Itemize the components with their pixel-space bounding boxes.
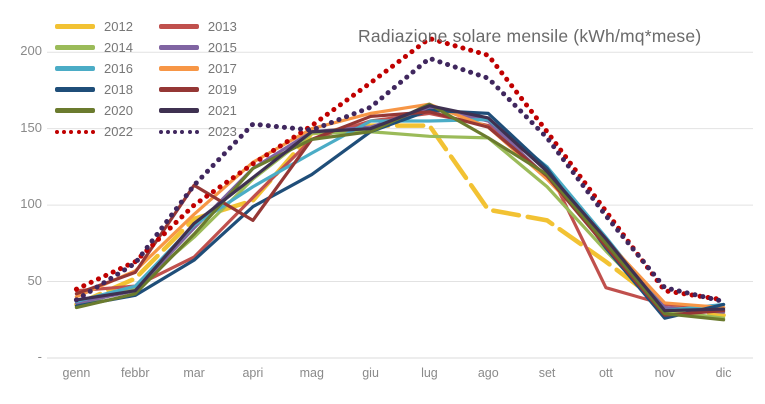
legend-item-2019[interactable]: 2019 bbox=[159, 79, 237, 100]
legend-item-2012[interactable]: 2012 bbox=[55, 16, 133, 37]
legend-swatch-2016 bbox=[55, 66, 95, 71]
legend-item-2017[interactable]: 2017 bbox=[159, 58, 237, 79]
legend-swatch-2021 bbox=[159, 108, 199, 113]
series-line-2014 bbox=[76, 132, 723, 319]
legend-label-2015: 2015 bbox=[208, 41, 237, 54]
legend-swatch-2013 bbox=[159, 24, 199, 29]
legend-item-2018[interactable]: 2018 bbox=[55, 79, 133, 100]
y-axis-tick-label: 150 bbox=[0, 120, 42, 135]
legend-item-2014[interactable]: 2014 bbox=[55, 37, 133, 58]
legend-item-2023[interactable]: 2023 bbox=[159, 121, 237, 142]
y-axis-tick-label: 50 bbox=[0, 273, 42, 288]
legend-label-2012: 2012 bbox=[104, 20, 133, 33]
legend-swatch-2018 bbox=[55, 87, 95, 92]
legend-item-2016[interactable]: 2016 bbox=[55, 58, 133, 79]
y-axis-tick-label: - bbox=[0, 349, 42, 364]
legend-item-2021[interactable]: 2021 bbox=[159, 100, 237, 121]
legend-label-2019: 2019 bbox=[208, 83, 237, 96]
legend-item-2020[interactable]: 2020 bbox=[55, 100, 133, 121]
y-axis-tick-label: 200 bbox=[0, 43, 42, 58]
series-line-2012 bbox=[76, 126, 723, 316]
legend-swatch-2022 bbox=[55, 129, 95, 134]
legend-item-2013[interactable]: 2013 bbox=[159, 16, 237, 37]
legend-label-2017: 2017 bbox=[208, 62, 237, 75]
legend-label-2021: 2021 bbox=[208, 104, 237, 117]
legend-swatch-2012 bbox=[55, 24, 95, 29]
legend-swatch-2020 bbox=[55, 108, 95, 113]
legend-swatch-2019 bbox=[159, 87, 199, 92]
legend-label-2014: 2014 bbox=[104, 41, 133, 54]
legend-item-2015[interactable]: 2015 bbox=[159, 37, 237, 58]
solar-radiation-line-chart: Radiazione solare mensile (kWh/mq*mese) … bbox=[0, 0, 765, 404]
legend-label-2022: 2022 bbox=[104, 125, 133, 138]
legend-label-2013: 2013 bbox=[208, 20, 237, 33]
x-axis-tick-label-dic: dic bbox=[689, 366, 759, 380]
y-axis-tick-label: 100 bbox=[0, 196, 42, 211]
chart-legend: 2012201320142015201620172018201920202021… bbox=[55, 16, 237, 142]
legend-swatch-2014 bbox=[55, 45, 95, 50]
chart-title: Radiazione solare mensile (kWh/mq*mese) bbox=[358, 26, 701, 47]
legend-swatch-2023 bbox=[159, 129, 199, 134]
legend-label-2018: 2018 bbox=[104, 83, 133, 96]
legend-swatch-2017 bbox=[159, 66, 199, 71]
legend-label-2023: 2023 bbox=[208, 125, 237, 138]
legend-item-2022[interactable]: 2022 bbox=[55, 121, 133, 142]
legend-swatch-2015 bbox=[159, 45, 199, 50]
legend-label-2016: 2016 bbox=[104, 62, 133, 75]
legend-label-2020: 2020 bbox=[104, 104, 133, 117]
